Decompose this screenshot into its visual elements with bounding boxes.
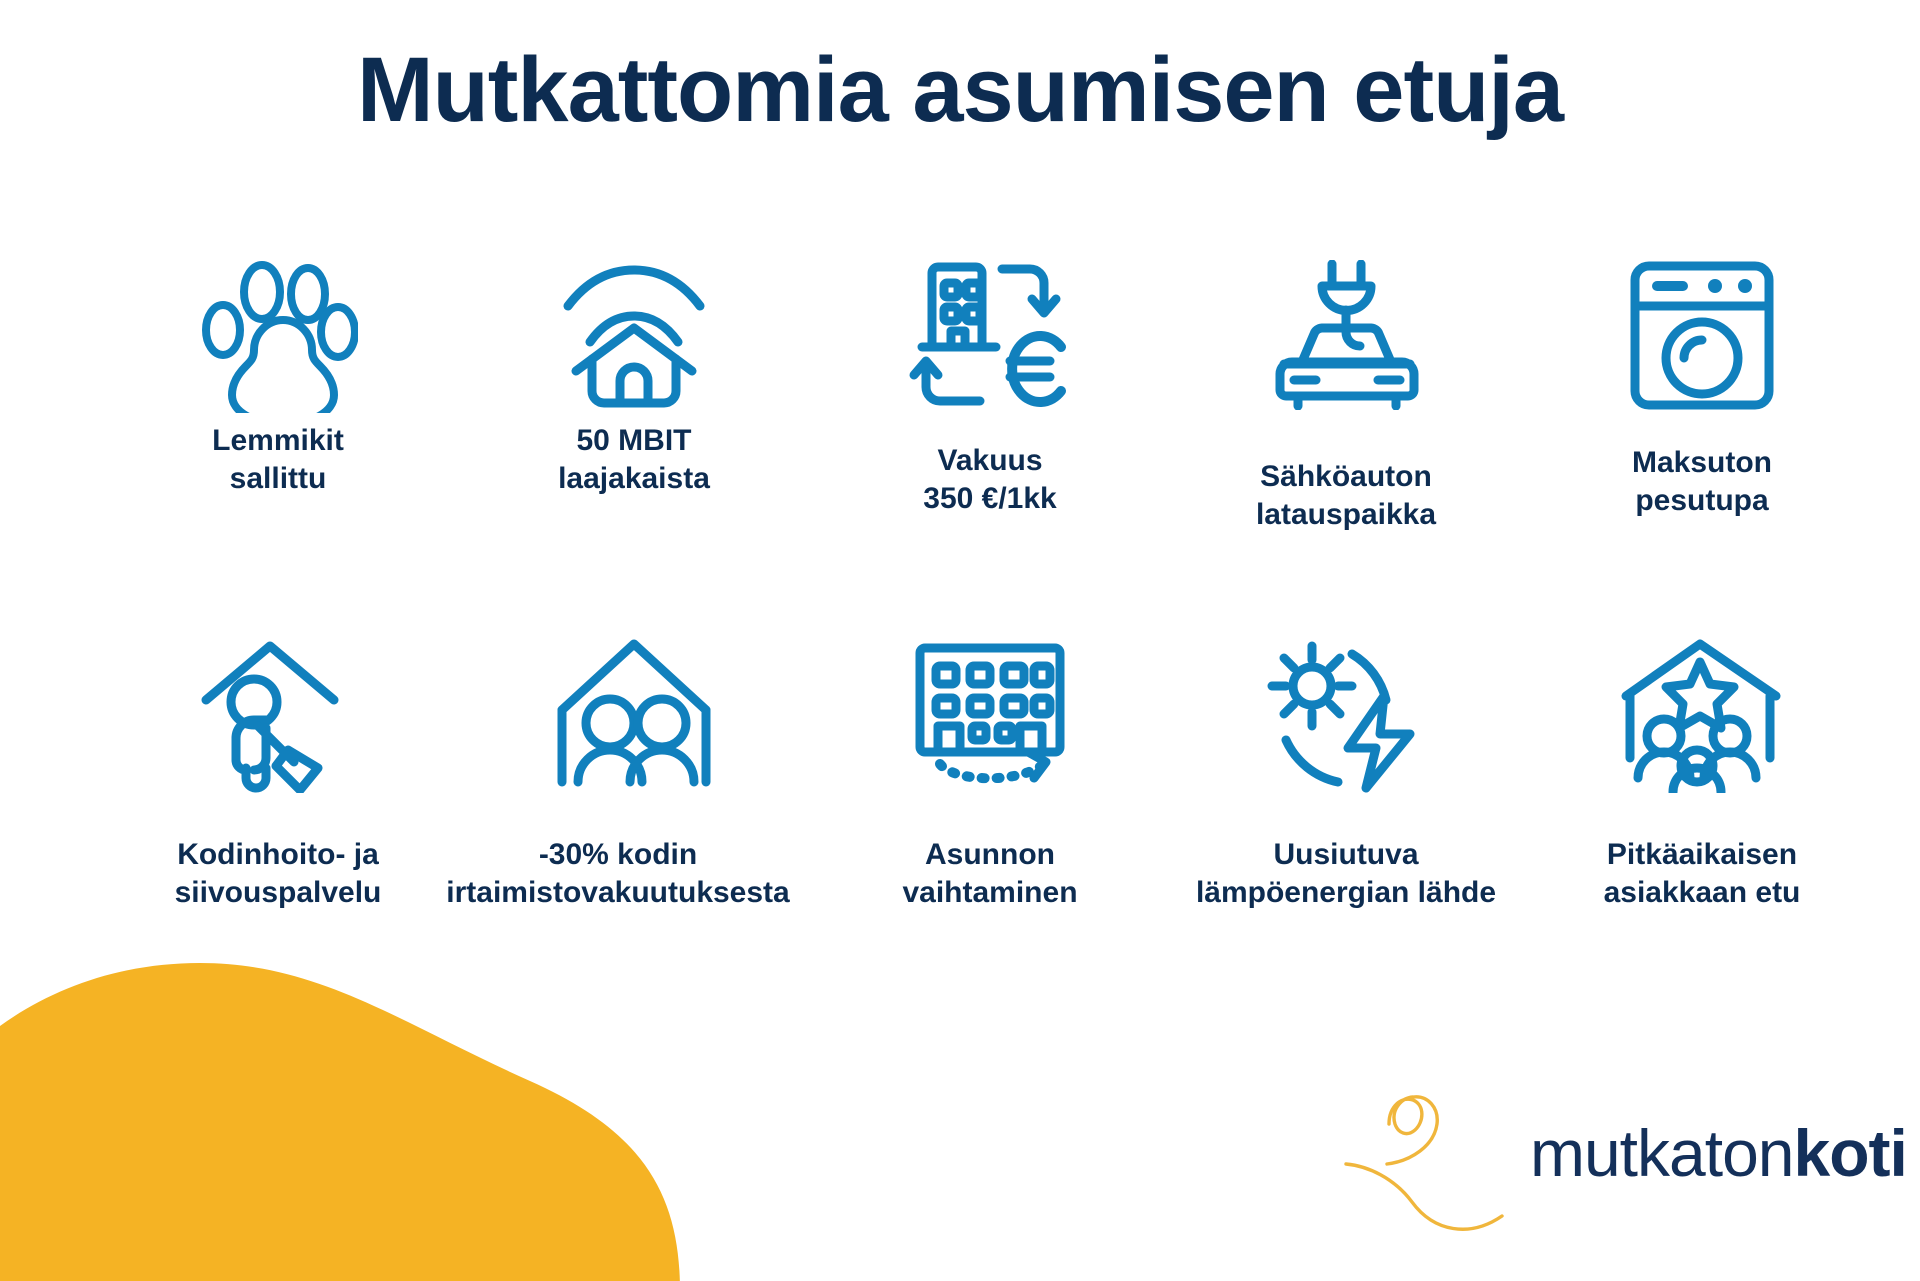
- benefit-label: 50 MBIT laajakaista: [558, 422, 710, 499]
- logo-wordmark: mutkatonkoti: [1530, 1115, 1907, 1191]
- paw-print-icon: [193, 250, 363, 420]
- benefit-label: Asunnon vaihtaminen: [902, 836, 1077, 913]
- benefit-label: Maksuton pesutupa: [1632, 444, 1772, 521]
- benefits-row-2: Kodinhoito- ja siivouspalvelu -30% kodin…: [100, 630, 1880, 913]
- benefit-item-pets: Lemmikit sallittu: [100, 250, 456, 499]
- benefit-item-ev-charging: Sähköauton latauspaikka: [1168, 250, 1524, 535]
- benefit-label: Vakuus 350 €/1kk: [923, 442, 1056, 519]
- benefit-item-apartment-swap: Asunnon vaihtaminen: [812, 630, 1168, 913]
- logo-name-light: mutkaton: [1530, 1116, 1793, 1190]
- apartment-swap-icon: [905, 630, 1075, 800]
- cleaning-person-house-icon: [193, 630, 363, 800]
- benefit-item-deposit: Vakuus 350 €/1kk: [812, 250, 1168, 519]
- benefit-label: -30% kodin irtaimistovakuutuksesta: [408, 836, 828, 913]
- page-title: Mutkattomia asumisen etuja: [0, 44, 1920, 136]
- infographic-page: Mutkattomia asumisen etuja Lemmikit sall…: [0, 0, 1920, 1281]
- sun-lightning-renewable-icon: [1261, 630, 1431, 800]
- benefit-item-cleaning: Kodinhoito- ja siivouspalvelu: [100, 630, 456, 913]
- electric-car-charging-icon: [1261, 250, 1431, 420]
- benefit-label: Sähköauton latauspaikka: [1256, 458, 1436, 535]
- wifi-house-icon: [549, 250, 719, 420]
- benefit-item-laundry: Maksuton pesutupa: [1524, 250, 1880, 521]
- benefit-label: Uusiutuva lämpöenergian lähde: [1161, 836, 1531, 913]
- brand-logo: mutkatonkoti: [1344, 1087, 1864, 1237]
- benefits-row-1: Lemmikit sallittu 50 MBIT laajakaista: [100, 250, 1880, 535]
- benefit-label: Kodinhoito- ja siivouspalvelu: [175, 836, 382, 913]
- logo-name-bold: koti: [1793, 1116, 1906, 1190]
- washing-machine-icon: [1617, 250, 1787, 420]
- yellow-decorative-blob: [0, 961, 680, 1281]
- benefit-label: Pitkäaikaisen asiakkaan etu: [1604, 836, 1801, 913]
- benefit-item-loyalty: Pitkäaikaisen asiakkaan etu: [1524, 630, 1880, 913]
- benefit-item-renewable-energy: Uusiutuva lämpöenergian lähde: [1168, 630, 1524, 913]
- benefit-label: Lemmikit sallittu: [212, 422, 344, 499]
- building-euro-exchange-icon: [905, 250, 1075, 420]
- benefit-item-insurance: -30% kodin irtaimistovakuutuksesta: [456, 630, 812, 913]
- benefit-item-broadband: 50 MBIT laajakaista: [456, 250, 812, 499]
- two-people-house-icon: [549, 630, 719, 800]
- family-star-house-icon: [1617, 630, 1787, 800]
